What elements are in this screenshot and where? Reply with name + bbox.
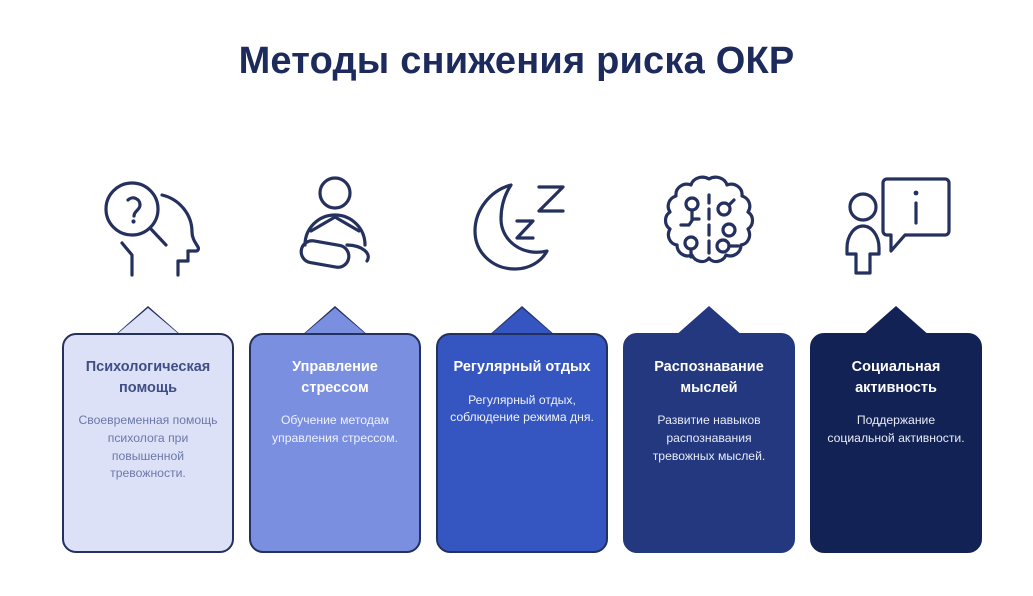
icon-cell-3 — [436, 165, 608, 285]
person-info-bubble-icon — [841, 173, 951, 277]
card-3-body: Регулярный отдых Регулярный отдых, соблю… — [436, 333, 608, 553]
moon-zzz-icon — [469, 173, 575, 277]
card-4-desc: Развитие навыков распознавания тревожных… — [637, 412, 781, 465]
card-2-body: Управление стрессом Обучение методам упр… — [249, 333, 421, 553]
card-4-title: Распознавание мыслей — [637, 357, 781, 398]
page-title: Методы снижения риска ОКР — [0, 40, 1033, 83]
icon-cell-4 — [623, 165, 795, 285]
brain-nodes-icon — [659, 173, 759, 277]
card-5-desc: Поддержание социальной активности. — [824, 412, 968, 447]
card-2[interactable]: Управление стрессом Обучение методам упр… — [249, 308, 421, 553]
card-1-body: Психологическая помощь Своевременная пом… — [62, 333, 234, 553]
card-2-desc: Обучение методам управления стрессом. — [263, 412, 407, 447]
icon-cell-1 — [62, 165, 234, 285]
card-4-pointer — [677, 308, 741, 335]
card-5[interactable]: Социальная активность Поддержание социал… — [810, 308, 982, 553]
icon-cell-5 — [810, 165, 982, 285]
meditating-person-icon — [285, 173, 385, 277]
card-3-desc: Регулярный отдых, соблюдение режима дня. — [450, 392, 594, 427]
card-2-title: Управление стрессом — [263, 357, 407, 398]
card-3-title: Регулярный отдых — [450, 357, 594, 378]
card-1-title: Психологическая помощь — [76, 357, 220, 398]
icons-row — [62, 165, 982, 285]
card-3[interactable]: Регулярный отдых Регулярный отдых, соблю… — [436, 308, 608, 553]
card-1-pointer — [116, 308, 180, 335]
card-5-body: Социальная активность Поддержание социал… — [810, 333, 982, 553]
card-4[interactable]: Распознавание мыслей Развитие навыков ра… — [623, 308, 795, 553]
icon-cell-2 — [249, 165, 421, 285]
cards-row: Психологическая помощь Своевременная пом… — [62, 308, 982, 553]
card-5-title: Социальная активность — [824, 357, 968, 398]
infographic-canvas: Методы снижения риска ОКР — [0, 0, 1033, 596]
card-4-body: Распознавание мыслей Развитие навыков ра… — [623, 333, 795, 553]
card-3-pointer — [490, 308, 554, 335]
head-magnifier-question-icon — [92, 173, 204, 277]
card-1[interactable]: Психологическая помощь Своевременная пом… — [62, 308, 234, 553]
card-5-pointer — [864, 308, 928, 335]
card-2-pointer — [303, 308, 367, 335]
card-1-desc: Своевременная помощь психолога при повыш… — [76, 412, 220, 483]
